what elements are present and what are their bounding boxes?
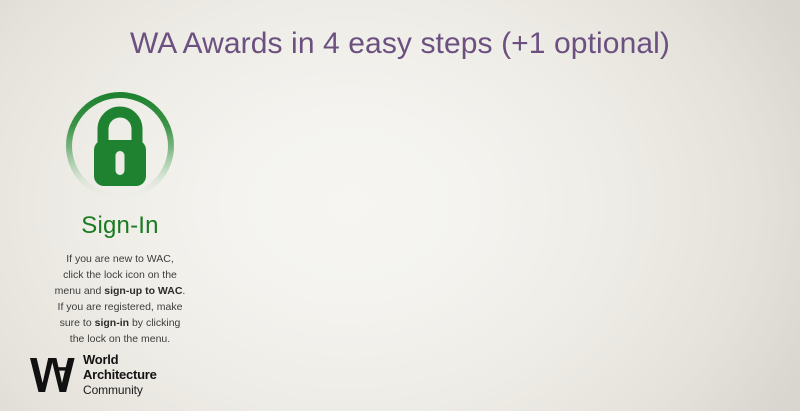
step-title: Sign-In: [38, 212, 202, 241]
wordmark-line-2: Architecture: [83, 368, 157, 383]
wa-monogram-icon: [29, 356, 76, 394]
wa-wordmark: World Architecture Community: [83, 352, 157, 397]
lock-icon: [60, 88, 180, 208]
lock-icon-graphic: [60, 88, 180, 208]
page-title: WA Awards in 4 easy steps (+1 optional): [0, 27, 800, 61]
step-card-sign-in: Sign-In If you are new to WAC,click the …: [38, 88, 202, 348]
wordmark-line-1: World: [83, 353, 157, 368]
wa-logo: World Architecture Community: [29, 352, 157, 397]
wordmark-line-3: Community: [83, 383, 157, 397]
step-description: If you are new to WAC,click the lock ico…: [38, 252, 202, 348]
slide-canvas: WA Awards in 4 easy steps (+1 optional): [0, 0, 800, 411]
